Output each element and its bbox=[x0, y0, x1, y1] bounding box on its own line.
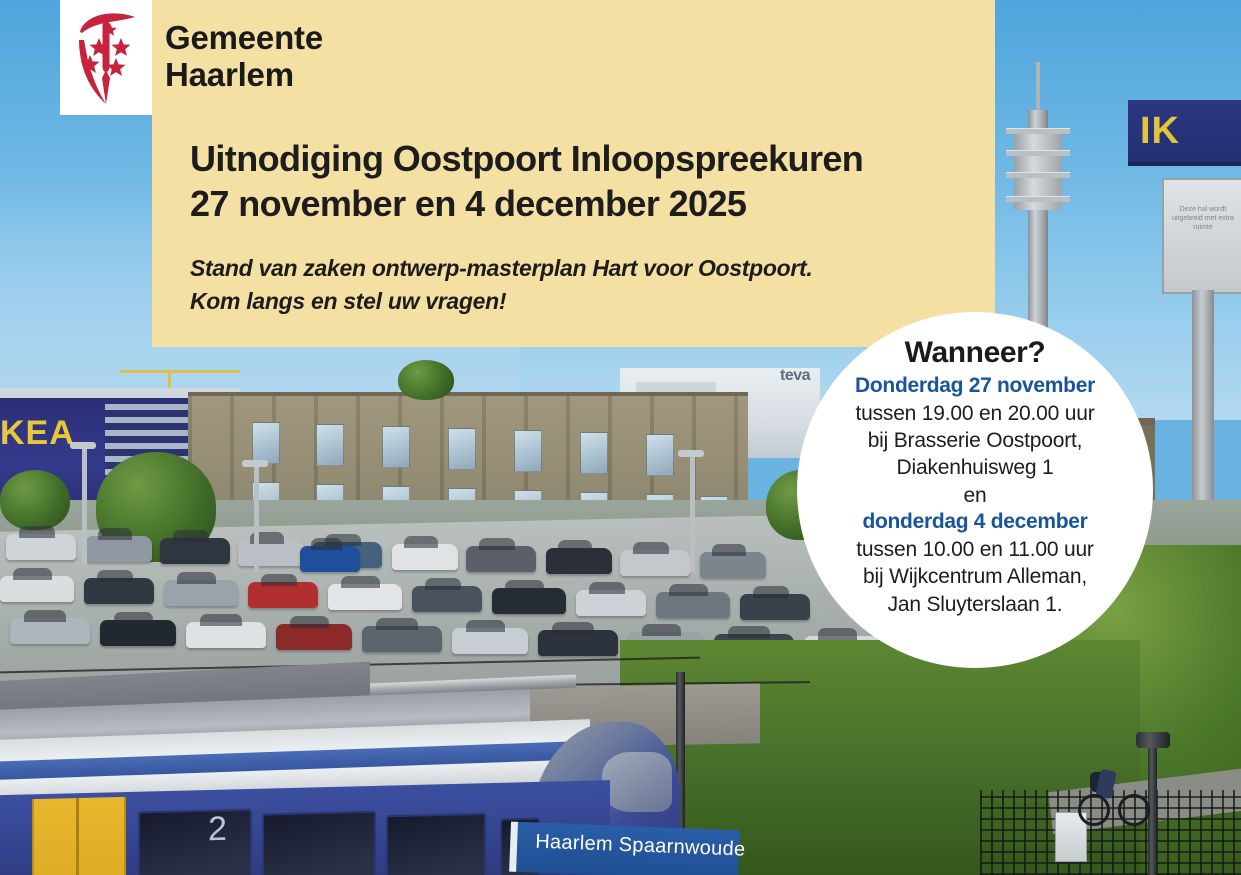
train-window bbox=[386, 813, 486, 875]
headline-line-1: Uitnodiging Oostpoort Inloopspreekuren bbox=[190, 138, 863, 179]
pylon-billboard-panel bbox=[1162, 178, 1241, 294]
lamp-head-dark bbox=[1136, 732, 1170, 748]
parked-car bbox=[100, 620, 176, 646]
building-window bbox=[514, 430, 542, 472]
train-door-split bbox=[76, 798, 79, 875]
poster-root: IK Deze hal wordt uitgebreid met extra r… bbox=[0, 0, 1241, 875]
bicycle-wheel bbox=[1118, 794, 1150, 826]
building-window bbox=[580, 432, 608, 474]
station-name-text: Haarlem Spaarnwoude bbox=[535, 832, 746, 860]
lamp-post bbox=[82, 444, 87, 564]
building-window bbox=[252, 422, 280, 464]
ikea-pylon-sign-text: IK bbox=[1140, 112, 1180, 150]
when-detail-line: tussen 19.00 en 20.00 uur bbox=[797, 400, 1153, 427]
haarlem-coat-of-arms-icon bbox=[72, 10, 140, 106]
lamp-head bbox=[70, 442, 96, 449]
fence bbox=[980, 790, 1241, 875]
parked-car bbox=[412, 586, 482, 612]
when-circle-content: Wanneer? Donderdag 27 novembertussen 19.… bbox=[797, 336, 1153, 618]
parked-car bbox=[10, 618, 90, 644]
ikea-store-sign-text: KEA bbox=[0, 416, 75, 450]
brand-line-1: Gemeente bbox=[165, 19, 323, 56]
parked-car bbox=[392, 544, 458, 570]
page-subtitle: Stand van zaken ontwerp-masterplan Hart … bbox=[190, 252, 813, 319]
logo-box bbox=[60, 0, 152, 115]
parked-car bbox=[84, 578, 154, 604]
parked-car bbox=[164, 580, 238, 606]
parked-car bbox=[0, 576, 74, 602]
when-circle: Wanneer? Donderdag 27 novembertussen 19.… bbox=[797, 312, 1153, 668]
parked-car bbox=[492, 588, 566, 614]
when-detail-line: Jan Sluyterslaan 1. bbox=[797, 591, 1153, 618]
brand-line-2: Haarlem bbox=[165, 57, 323, 94]
parked-car bbox=[466, 546, 536, 572]
tree bbox=[398, 360, 454, 400]
parked-car bbox=[700, 552, 766, 578]
telecom-tower-ring bbox=[1006, 150, 1070, 156]
telecom-tower-ring bbox=[1006, 196, 1070, 202]
subline-line-1: Stand van zaken ontwerp-masterplan Hart … bbox=[190, 255, 813, 281]
parked-car bbox=[362, 626, 442, 652]
parked-car bbox=[248, 582, 318, 608]
construction-crane-jib bbox=[120, 370, 240, 373]
telecom-tower-ring bbox=[1006, 128, 1070, 134]
page-title: Uitnodiging Oostpoort Inloopspreekuren 2… bbox=[190, 136, 863, 226]
when-detail-line: Diakenhuisweg 1 bbox=[797, 454, 1153, 481]
parked-car bbox=[620, 550, 690, 576]
building-window bbox=[316, 424, 344, 466]
parked-car bbox=[276, 624, 352, 650]
building-window bbox=[382, 426, 410, 468]
parked-car bbox=[656, 592, 730, 618]
parked-car bbox=[6, 534, 76, 560]
parked-car bbox=[328, 584, 402, 610]
when-date-line: donderdag 4 december bbox=[797, 509, 1153, 536]
parked-car bbox=[538, 630, 618, 656]
building-window bbox=[448, 428, 476, 470]
when-lines-list: Donderdag 27 novembertussen 19.00 en 20.… bbox=[797, 373, 1153, 618]
train-car-number: 2 bbox=[208, 812, 227, 846]
pylon-billboard-text: Deze hal wordt uitgebreid met extra ruim… bbox=[1172, 205, 1234, 232]
telecom-tower-ring bbox=[1006, 172, 1070, 178]
lamp-post bbox=[690, 452, 695, 572]
parked-car bbox=[186, 622, 266, 648]
parked-car bbox=[452, 628, 528, 654]
train-window bbox=[138, 809, 252, 875]
parked-car bbox=[300, 546, 360, 572]
lamp-head bbox=[242, 460, 268, 467]
station-name-sign: Haarlem Spaarnwoude bbox=[509, 822, 740, 875]
parked-car bbox=[576, 590, 646, 616]
brand-lockup: Gemeente Haarlem bbox=[165, 20, 323, 94]
parked-car bbox=[238, 540, 304, 566]
bicycle-wheel bbox=[1078, 794, 1110, 826]
when-date-line: Donderdag 27 november bbox=[797, 373, 1153, 400]
lamp-post bbox=[254, 462, 259, 572]
telecom-tower-mast bbox=[1036, 62, 1040, 117]
train-window bbox=[262, 811, 376, 875]
train-door bbox=[32, 797, 126, 875]
parked-car bbox=[86, 536, 152, 562]
parked-car bbox=[160, 538, 230, 564]
train-cab-window bbox=[602, 752, 672, 812]
lamp-head bbox=[678, 450, 704, 457]
when-title: Wanneer? bbox=[797, 336, 1153, 369]
subline-line-2: Kom langs en stel uw vragen! bbox=[190, 285, 813, 318]
when-detail-line: en bbox=[797, 482, 1153, 509]
headline-line-2: 27 november en 4 december 2025 bbox=[190, 181, 863, 226]
when-detail-line: tussen 10.00 en 11.00 uur bbox=[797, 536, 1153, 563]
parked-car bbox=[546, 548, 612, 574]
pylon-pole bbox=[1192, 290, 1214, 520]
tree bbox=[0, 470, 70, 530]
building-window bbox=[646, 434, 674, 476]
when-detail-line: bij Brasserie Oostpoort, bbox=[797, 427, 1153, 454]
when-detail-line: bij Wijkcentrum Alleman, bbox=[797, 563, 1153, 590]
